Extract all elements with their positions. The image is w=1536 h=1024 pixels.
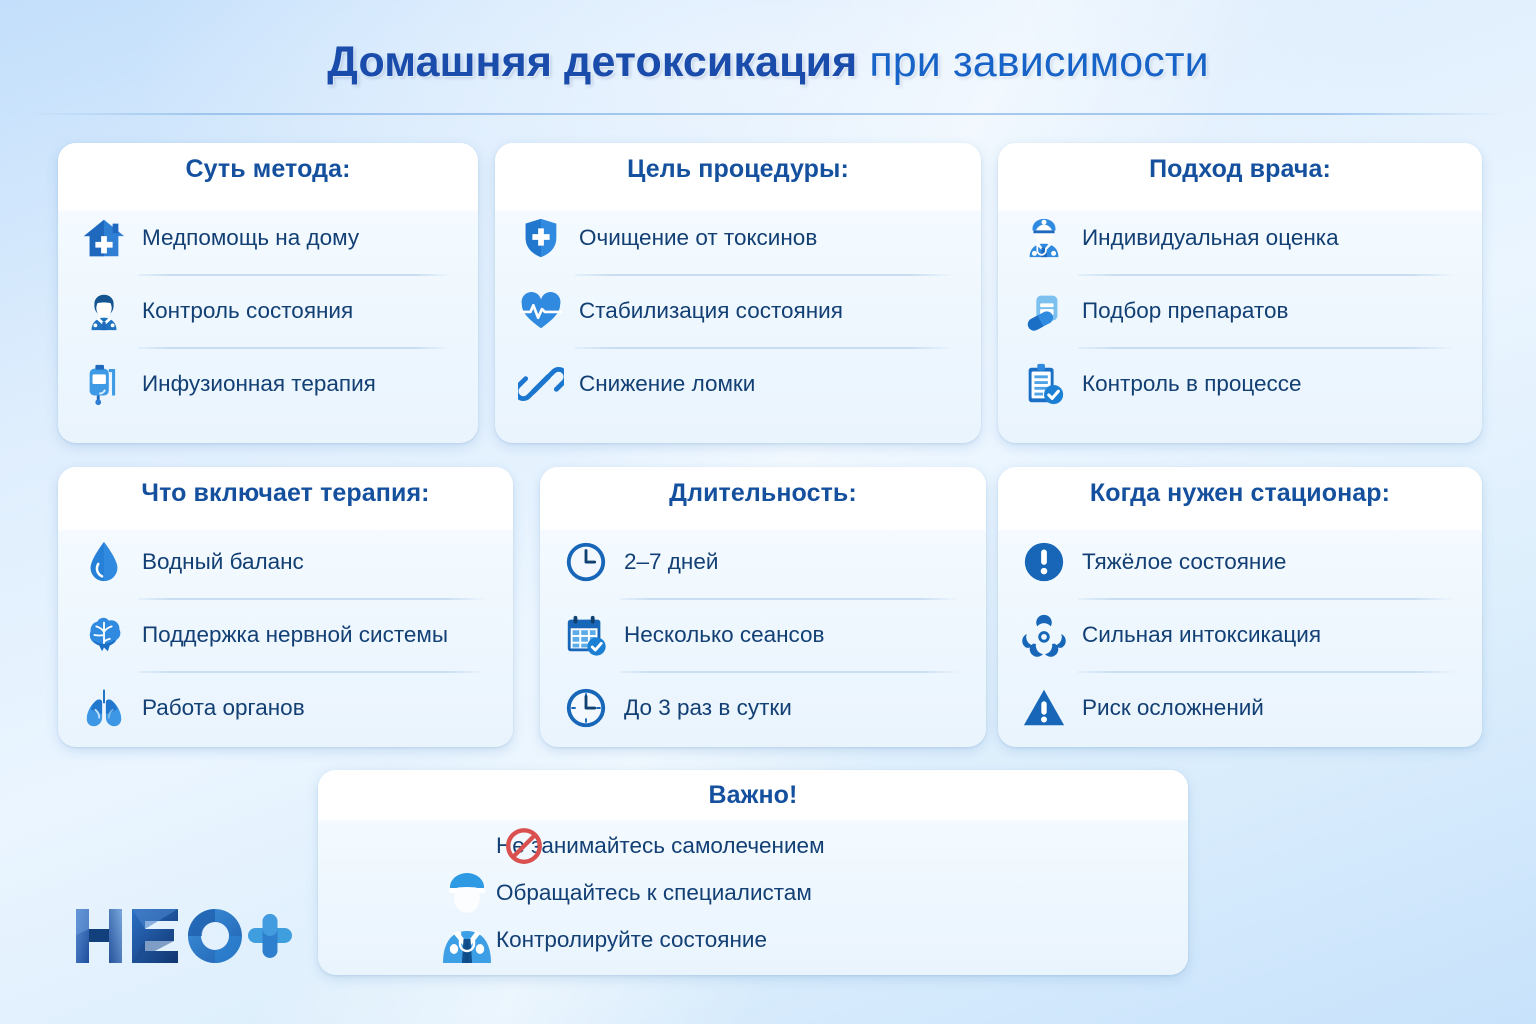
list-item: Контроль в процессе [1020, 347, 1460, 420]
card-header: Подход врача: [998, 143, 1482, 195]
list-item: Стабилизация состояния [517, 274, 959, 347]
page-title-light: при зависимости [869, 38, 1208, 86]
list-item-label: Медпомощь на дому [142, 225, 359, 251]
list-item-label: Тяжёлое состояние [1082, 549, 1286, 575]
infographic-poster: Домашняя детоксикация при зависимости Су… [0, 0, 1536, 1024]
card-kogda-nuzhen-statsionar: Когда нужен стационар: Тяжёлое состояние [998, 467, 1482, 747]
list-item-label: Индивидуальная оценка [1082, 225, 1339, 251]
list-item: Сильная интоксикация [1020, 598, 1460, 671]
list-item: Риск осложнений [1020, 671, 1460, 744]
warning-triangle-icon [1020, 684, 1068, 732]
list-item-label: Контроль в процессе [1082, 371, 1302, 397]
list-item: Тяжёлое состояние [1020, 525, 1460, 598]
list-item-label: Работа органов [142, 695, 305, 721]
card-header: Когда нужен стационар: [998, 467, 1482, 519]
list-item-label: Поддержка нервной системы [142, 622, 448, 648]
list-item: Подбор препаратов [1020, 274, 1460, 347]
card-header: Суть метода: [58, 143, 478, 195]
list-item: Контроль состояния [80, 274, 456, 347]
important-list: Не занимайтесь самолечением [318, 822, 1188, 963]
list-item: Контролируйте состояние [496, 916, 1188, 963]
home-cross-icon [80, 214, 128, 262]
pills-icon [1020, 287, 1068, 335]
list-item-label: Водный баланс [142, 549, 304, 575]
list-item: Медпомощь на дому [80, 201, 456, 274]
clock-icon [562, 538, 610, 586]
logo-neo-plus [70, 895, 295, 975]
list-item-label: Стабилизация состояния [579, 298, 843, 324]
list-item: Обращайтесь к специалистам [496, 869, 1188, 916]
chain-link-icon [517, 360, 565, 408]
card-cel-procedury: Цель процедуры: Очищение от токсинов [495, 143, 981, 443]
list-item-label: Очищение от токсинов [579, 225, 817, 251]
doctor-figure-icon [436, 865, 496, 961]
list-item: Индивидуальная оценка [1020, 201, 1460, 274]
list-item: До 3 раз в сутки [562, 671, 964, 744]
list-item-label: Обращайтесь к специалистам [496, 880, 812, 906]
iv-drip-icon [80, 360, 128, 408]
card-header: Цель процедуры: [495, 143, 981, 195]
list-item: Очищение от токсинов [517, 201, 959, 274]
card-body: Медпомощь на дому Контроль состоя [58, 195, 478, 430]
exclamation-circle-icon [1020, 538, 1068, 586]
card-body: Индивидуальная оценка Подбор препаратов [998, 195, 1482, 430]
card-body: Очищение от токсинов Стабилизация состоя… [495, 195, 981, 430]
card-podhod-vracha: Подход врача: [998, 143, 1482, 443]
card-header: Важно! [318, 770, 1188, 820]
card-vazhno: Важно! Не занимайтесь самолечением [318, 770, 1188, 975]
list-item-label: Снижение ломки [579, 371, 755, 397]
list-item-label: 2–7 дней [624, 549, 718, 575]
list-item-label: До 3 раз в сутки [624, 695, 792, 721]
clock-icon [562, 684, 610, 732]
card-header: Что включает терапия: [58, 467, 513, 519]
page-title-strong: Домашняя детоксикация [327, 38, 857, 86]
clipboard-check-icon [1020, 360, 1068, 408]
card-body: Водный баланс Поддержка нервной системы [58, 519, 513, 747]
card-header: Длительность: [540, 467, 986, 519]
page-title: Домашняя детоксикация при зависимости [0, 38, 1536, 86]
doctor-stethoscope-icon [1020, 214, 1068, 262]
prohibition-icon [496, 822, 552, 869]
title-divider [30, 113, 1506, 115]
list-item: Работа органов [80, 671, 491, 744]
calendar-check-icon [562, 611, 610, 659]
card-chto-vklyuchaet-terapiya: Что включает терапия: Водный баланс [58, 467, 513, 747]
card-sut-metoda: Суть метода: Медпомощь на дому [58, 143, 478, 443]
lungs-icon [80, 684, 128, 732]
list-item-label: Несколько сеансов [624, 622, 825, 648]
brain-icon [80, 611, 128, 659]
list-item-label: Контролируйте состояние [496, 927, 767, 953]
card-body: Не занимайтесь самолечением [318, 820, 1188, 963]
list-item: Поддержка нервной системы [80, 598, 491, 671]
list-item-label: Сильная интоксикация [1082, 622, 1321, 648]
shield-cross-icon [517, 214, 565, 262]
heart-pulse-icon [517, 287, 565, 335]
list-item: 2–7 дней [562, 525, 964, 598]
list-item: Водный баланс [80, 525, 491, 598]
card-dlitelnost: Длительность: 2–7 дней [540, 467, 986, 747]
water-drop-icon [80, 538, 128, 586]
doctor-bust-icon [80, 287, 128, 335]
list-item: Несколько сеансов [562, 598, 964, 671]
list-item-label: Инфузионная терапия [142, 371, 376, 397]
list-item-label: Подбор препаратов [1082, 298, 1288, 324]
list-item: Не занимайтесь самолечением [496, 822, 1188, 869]
list-item-label: Риск осложнений [1082, 695, 1264, 721]
list-item: Снижение ломки [517, 347, 959, 420]
card-body: Тяжёлое состояние [998, 519, 1482, 747]
biohazard-icon [1020, 611, 1068, 659]
list-item-label: Контроль состояния [142, 298, 353, 324]
card-body: 2–7 дней [540, 519, 986, 747]
list-item: Инфузионная терапия [80, 347, 456, 420]
